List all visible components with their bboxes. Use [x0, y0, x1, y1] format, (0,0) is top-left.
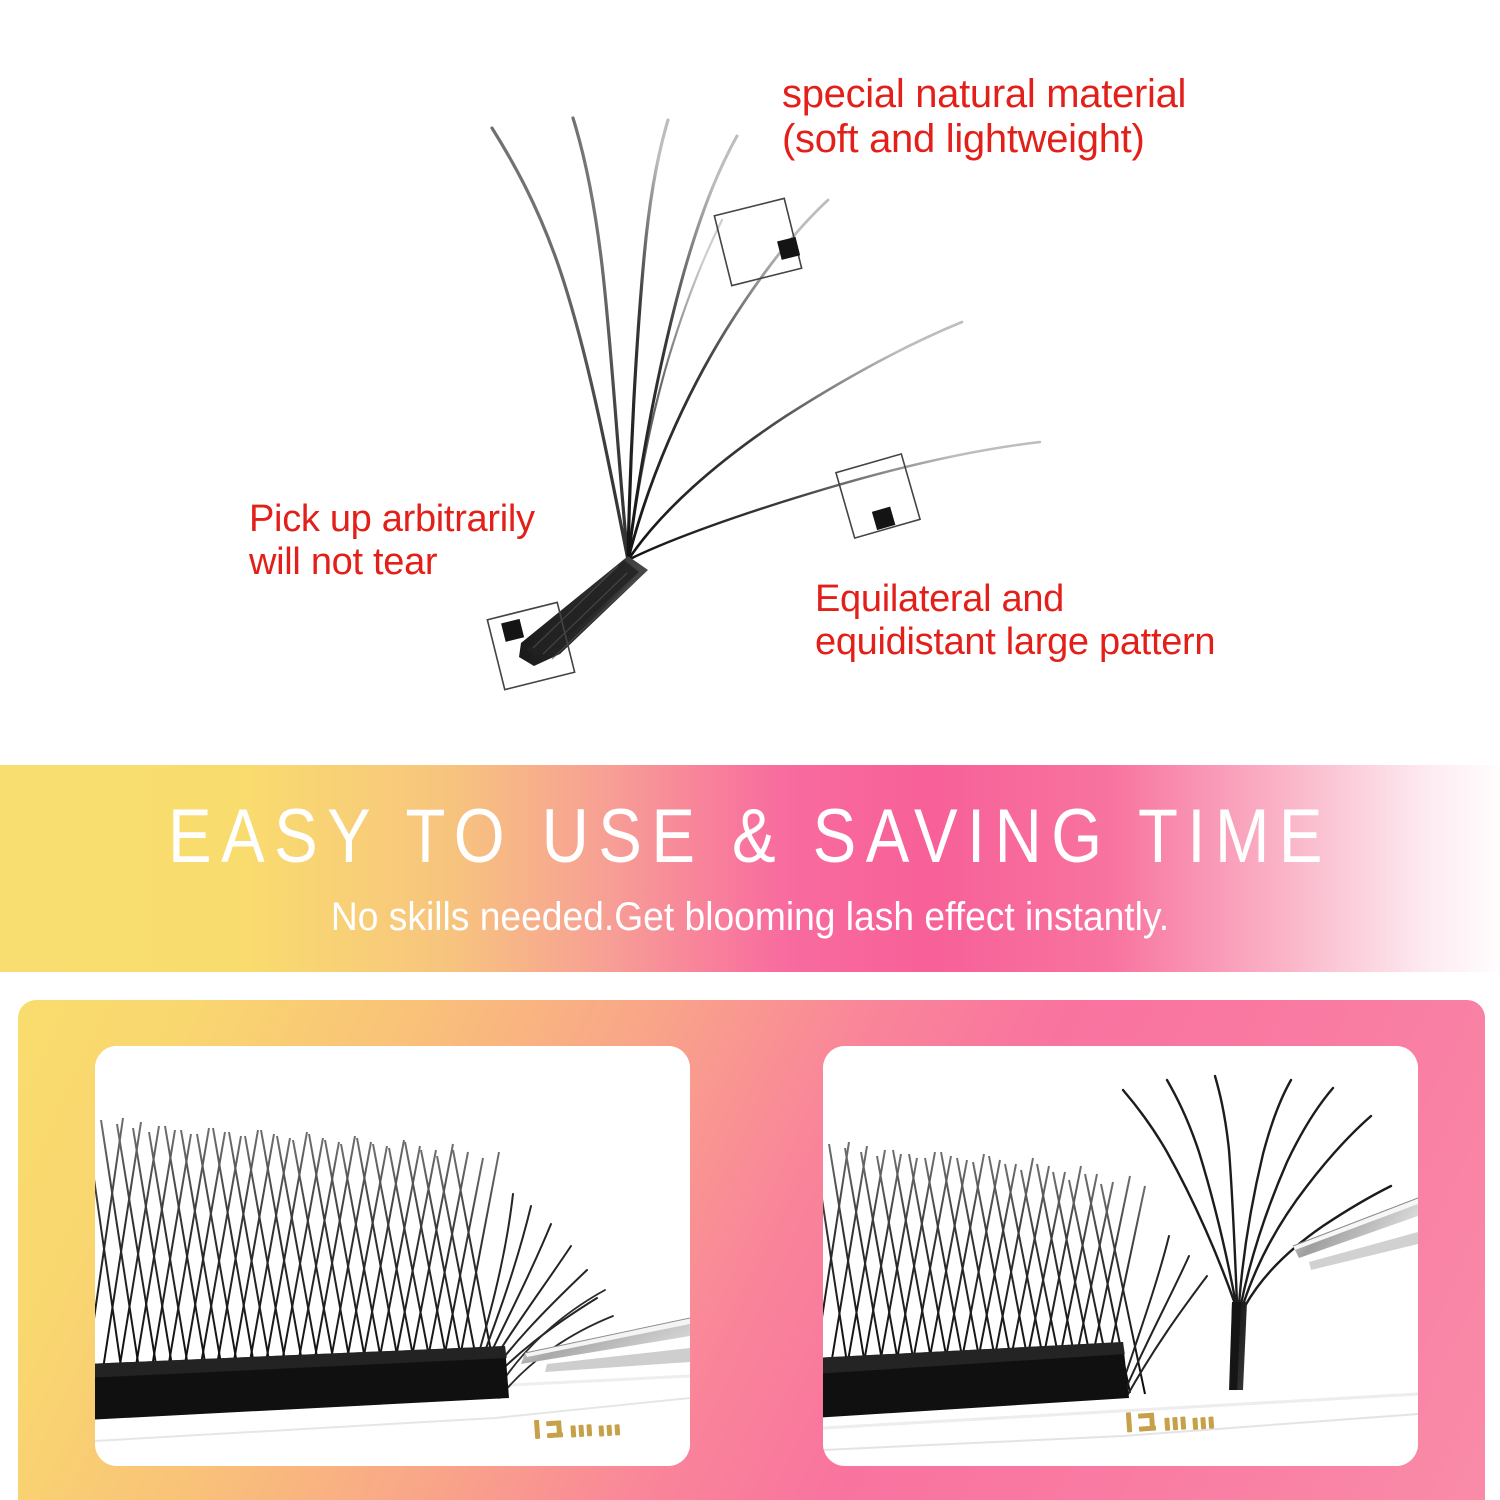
hero-section: special natural material (soft and light… — [0, 0, 1500, 765]
lash-fan-illustration — [0, 0, 1500, 765]
photo-card-lash-fan-lifted-by-tweezers[interactable] — [823, 1046, 1418, 1466]
showcase-panel — [18, 1000, 1485, 1500]
promo-banner-subtitle: No skills needed.Get blooming lash effec… — [53, 895, 1448, 940]
marker-square-top — [714, 198, 801, 285]
marker-square-base — [487, 602, 574, 689]
photo-card-lash-tray-with-tweezers[interactable] — [95, 1046, 690, 1466]
callout-special-natural-material: special natural material (soft and light… — [782, 72, 1186, 162]
callout-equilateral-equidistant: Equilateral and equidistant large patter… — [815, 578, 1215, 663]
promo-banner-title: EASY TO USE & SAVING TIME — [105, 793, 1395, 880]
promo-banner: EASY TO USE & SAVING TIME No skills need… — [0, 765, 1500, 972]
marker-square-middle — [836, 454, 920, 538]
callout-pick-up-arbitrarily: Pick up arbitrarily will not tear — [249, 498, 535, 583]
